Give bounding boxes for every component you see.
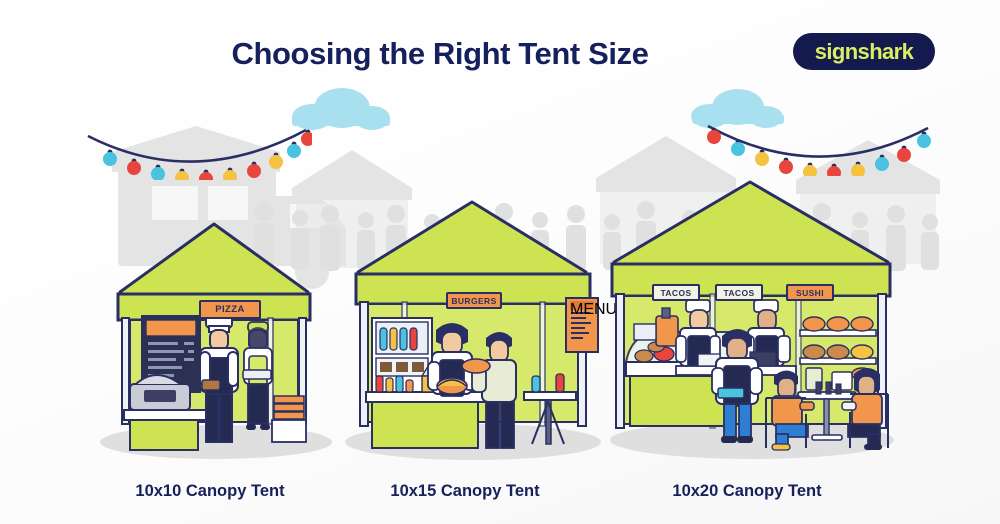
tent-label-10x15: 10x15 Canopy Tent xyxy=(352,482,578,501)
stall-sign-pizza[interactable]: PIZZA xyxy=(199,300,261,319)
tent-10x15[interactable]: BURGERS MENU xyxy=(340,196,606,465)
brand-logo-text: signshark xyxy=(815,39,914,65)
stall-sign-burgers[interactable]: BURGERS xyxy=(446,292,502,309)
stall-sign-label: BURGERS xyxy=(451,296,496,306)
stall-sign-tacos-2[interactable]: TACOS xyxy=(715,284,763,301)
string-lights-left xyxy=(82,116,312,180)
infographic-canvas: PIZZA 10x10 Canopy Tent xyxy=(0,0,1000,524)
tent-label-10x20: 10x20 Canopy Tent xyxy=(632,482,862,501)
menu-board-title: MENU xyxy=(570,301,594,310)
string-lights-right xyxy=(702,112,934,176)
page-title: Choosing the Right Tent Size xyxy=(0,36,880,72)
stall-sign-label: PIZZA xyxy=(215,304,244,315)
stall-sign-tacos-1[interactable]: TACOS xyxy=(652,284,700,301)
tent-10x10[interactable]: PIZZA xyxy=(96,218,336,465)
stall-sign-label: TACOS xyxy=(660,288,691,298)
stall-sign-sushi[interactable]: SUSHI xyxy=(786,284,834,301)
tent-10x20[interactable]: TACOS TACOS SUSHI xyxy=(600,176,900,465)
menu-board[interactable]: MENU xyxy=(565,297,599,353)
stall-sign-label: TACOS xyxy=(723,288,754,298)
brand-logo[interactable]: signshark xyxy=(793,33,935,70)
stall-sign-label: SUSHI xyxy=(796,288,824,298)
tent-label-10x10: 10x10 Canopy Tent xyxy=(98,482,322,501)
